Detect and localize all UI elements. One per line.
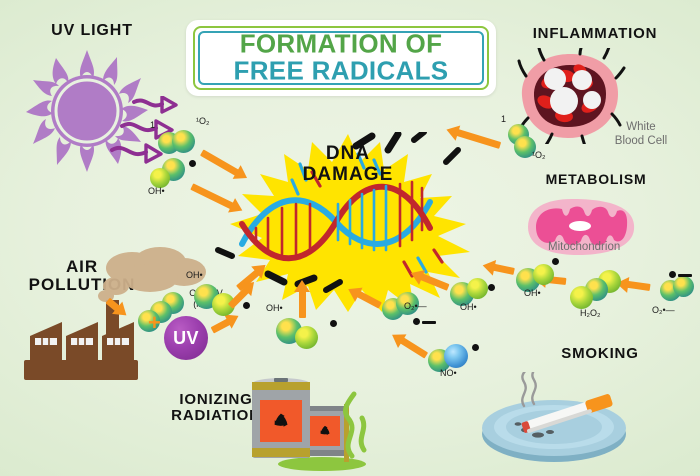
molecule-superoxide-right bbox=[660, 276, 694, 304]
smoking-heading: SMOKING bbox=[520, 346, 680, 362]
title-plate: FORMATION OF FREE RADICALS bbox=[186, 20, 496, 96]
label-right-superoxide: O₂•— bbox=[652, 305, 675, 315]
radical-dot-3 bbox=[488, 284, 495, 291]
dna-damage-label: DNA DAMAGE bbox=[208, 144, 488, 185]
radical-dot-7 bbox=[330, 320, 337, 327]
mitochondrion-caption: Mitochondrion bbox=[548, 240, 658, 254]
molecule-hydrogen-peroxide bbox=[570, 270, 622, 312]
infographic-canvas: DNA DAMAGE FORMATION OF FREE RADICALS UV… bbox=[0, 0, 700, 476]
barrel-large bbox=[252, 378, 310, 458]
toxic-spill bbox=[278, 457, 366, 471]
page-title: FORMATION OF FREE RADICALS bbox=[186, 31, 496, 86]
label-radiation-hydroxyl: OH• bbox=[266, 303, 283, 313]
radical-dot-6 bbox=[243, 302, 250, 309]
label-uv-singlet-oxygen: ¹O₂ bbox=[196, 116, 210, 126]
metabolism-heading: METABOLISM bbox=[508, 172, 684, 187]
label-smoking-superoxide: O₂•— bbox=[404, 301, 427, 311]
radical-dash-1 bbox=[678, 274, 692, 277]
radical-dot-5 bbox=[472, 344, 479, 351]
white-blood-cell-caption: White Blood Cell bbox=[596, 120, 686, 149]
ashtray-cigarette-icon bbox=[478, 372, 646, 468]
label-hydroxyl-metab-b: OH• bbox=[460, 302, 477, 312]
mito-matrix-highlight bbox=[569, 221, 591, 231]
radical-dot-2 bbox=[552, 258, 559, 265]
label-uv-one: 1 bbox=[150, 120, 155, 130]
label-hydrogen-peroxide: H₂O₂ bbox=[580, 308, 601, 318]
inflammation-heading: INFLAMMATION bbox=[500, 26, 690, 42]
label-pollution-hydroxyl: OH• bbox=[186, 270, 203, 280]
molecule-singlet-oxygen-uv bbox=[158, 130, 198, 156]
uv-light-heading: UV LIGHT bbox=[22, 22, 162, 39]
label-hydroxyl-metab-a: OH• bbox=[524, 288, 541, 298]
label-uv-hydroxyl: OH• bbox=[148, 186, 165, 196]
label-inflammation-one: 1 bbox=[501, 114, 506, 124]
smoke-wisps bbox=[522, 372, 538, 406]
radical-dot-1 bbox=[669, 271, 676, 278]
barrel-small bbox=[306, 406, 346, 456]
label-inflammation-singlet-oxygen: ¹O₂ bbox=[532, 150, 546, 160]
radical-dot-4 bbox=[413, 318, 420, 325]
label-nitric-oxide: NO• bbox=[440, 368, 457, 378]
molecule-hydroxyl-uv bbox=[150, 158, 192, 186]
plus-sign: + bbox=[148, 310, 161, 336]
molecule-hydroxyl-radiation bbox=[276, 318, 322, 350]
radical-dash-2 bbox=[422, 321, 436, 324]
uv-badge: UV bbox=[164, 316, 208, 360]
arrow-smoking-to-dna bbox=[385, 331, 426, 356]
radioactive-barrel-icon bbox=[248, 360, 368, 472]
